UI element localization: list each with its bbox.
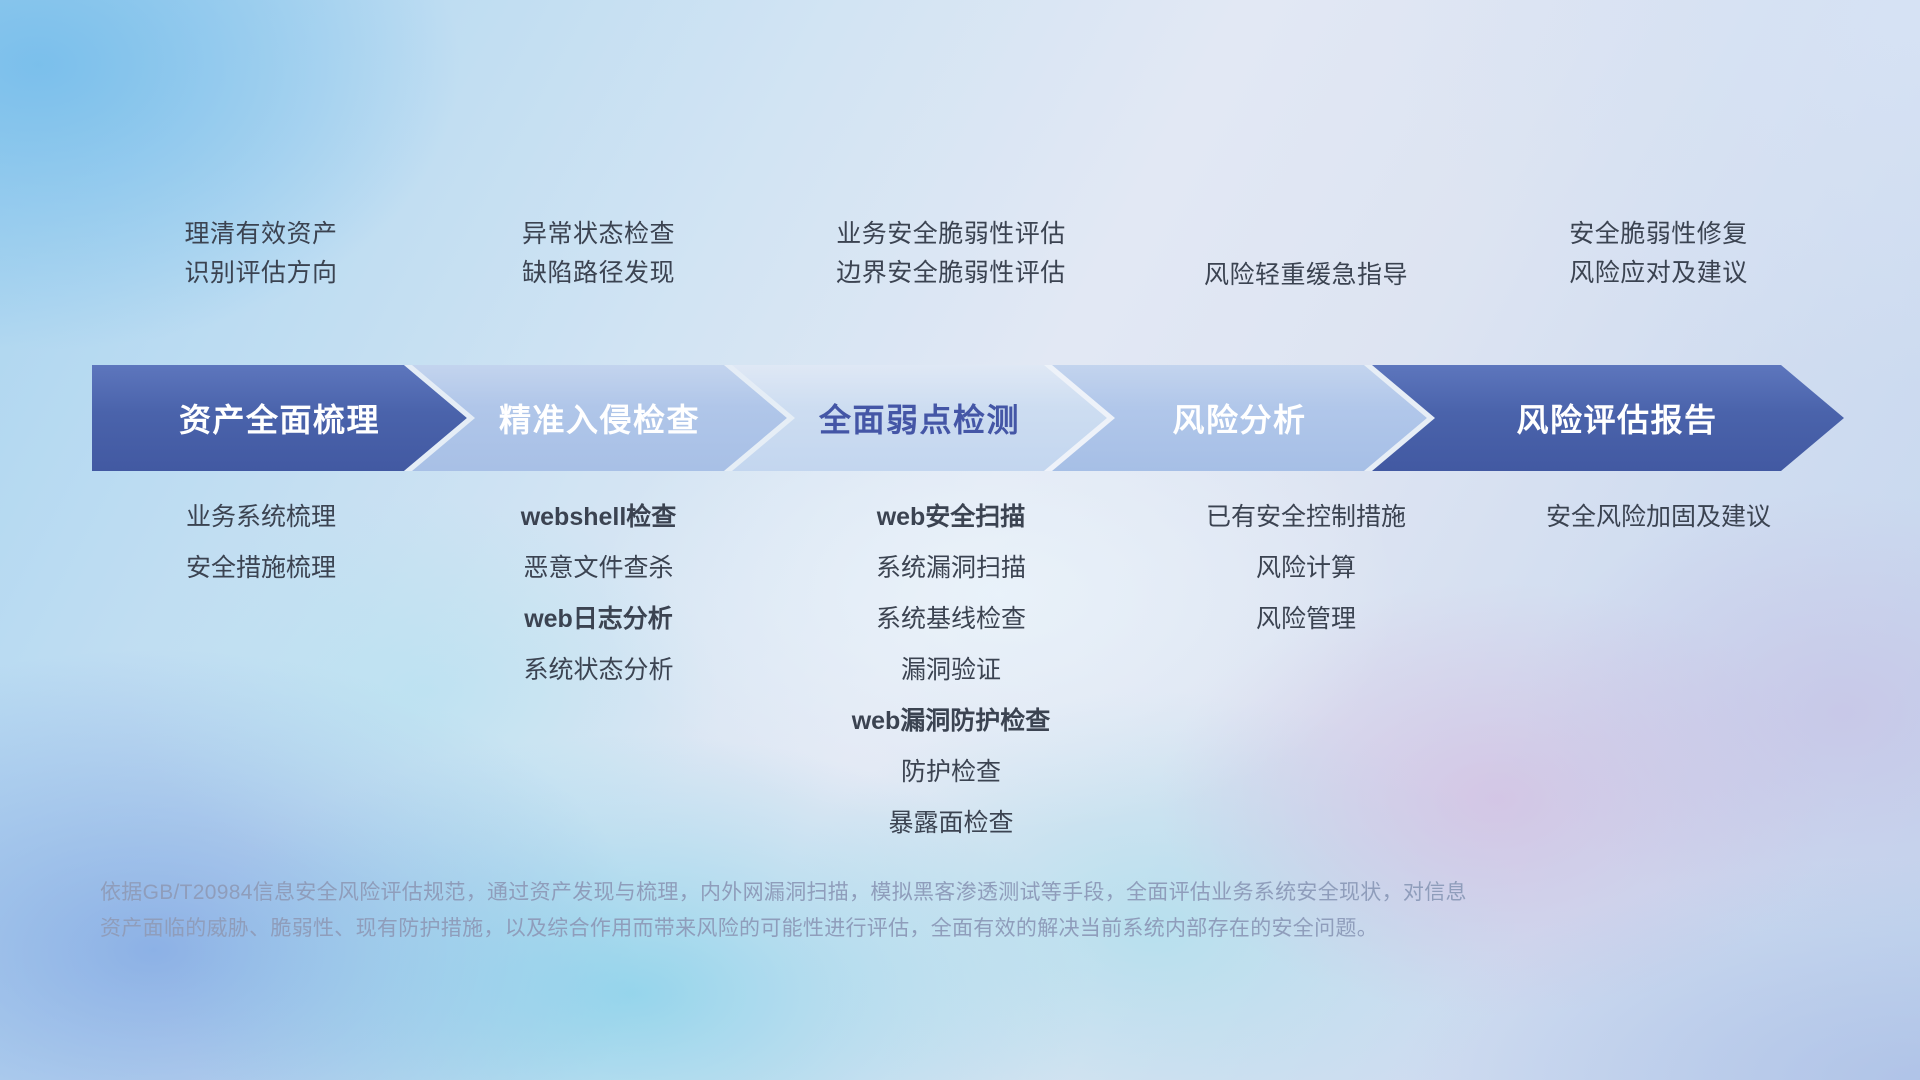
footer-line-1: 依据GB/T20984信息安全风险评估规范，通过资产发现与梳理，内外网漏洞扫描，… [100,875,1640,911]
output-text: 恶意文件查杀 [426,556,771,581]
stage-outputs-risk-analysis: 已有安全控制措施 风险计算 风险管理 [1131,505,1481,632]
output-text: 系统状态分析 [426,658,771,683]
stage-inputs-report: 安全脆弱性修复 风险应对及建议 [1481,222,1836,328]
stage-inputs-row: 理清有效资产 识别评估方向 异常状态检查 缺陷路径发现 业务安全脆弱性评估 边界… [96,222,1836,328]
stage-title: 资产全面梳理 [179,395,380,441]
input-text: 业务安全脆弱性评估 [771,222,1131,247]
input-text: 安全脆弱性修复 [1481,222,1836,247]
output-text: 系统基线检查 [771,607,1131,632]
footer-description: 依据GB/T20984信息安全风险评估规范，通过资产发现与梳理，内外网漏洞扫描，… [100,875,1640,947]
output-text: 暴露面检查 [771,811,1131,836]
stage-inputs-risk-analysis: 风险轻重缓急指导 [1131,222,1481,328]
stage-arrow-band: 资产全面梳理 [92,365,1844,471]
process-diagram: 理清有效资产 识别评估方向 异常状态检查 缺陷路径发现 业务安全脆弱性评估 边界… [0,0,1920,1080]
input-text: 异常状态检查 [426,222,771,247]
stage-outputs-asset: 业务系统梳理 安全措施梳理 [96,505,426,581]
output-text: webshell检查 [426,505,771,530]
stage-arrow-asset[interactable]: 资产全面梳理 [92,365,467,471]
stage-outputs-intrusion: webshell检查 恶意文件查杀 web日志分析 系统状态分析 [426,505,771,683]
output-text: 安全措施梳理 [96,556,426,581]
stage-inputs-weakness: 业务安全脆弱性评估 边界安全脆弱性评估 [771,222,1131,328]
stage-outputs-report: 安全风险加固及建议 [1481,505,1836,530]
stage-title: 风险分析 [1172,395,1306,441]
stage-title: 精准入侵检查 [499,395,700,441]
stage-title: 全面弱点检测 [819,395,1020,441]
footer-line-2: 资产面临的威胁、脆弱性、现有防护措施，以及综合作用而带来风险的可能性进行评估，全… [100,911,1640,947]
stage-inputs-asset: 理清有效资产 识别评估方向 [96,222,426,328]
stage-arrow-risk-analysis[interactable]: 风险分析 [1052,365,1427,471]
output-text: web日志分析 [426,607,771,632]
stage-arrow-intrusion[interactable]: 精准入侵检查 [412,365,787,471]
output-text: 已有安全控制措施 [1131,505,1481,530]
output-text: web安全扫描 [771,505,1131,530]
input-text: 缺陷路径发现 [426,261,771,286]
stage-arrow-weakness[interactable]: 全面弱点检测 [732,365,1107,471]
output-text: 风险管理 [1131,607,1481,632]
output-text: 安全风险加固及建议 [1481,505,1836,530]
output-text: 防护检查 [771,760,1131,785]
input-text: 边界安全脆弱性评估 [771,261,1131,286]
stage-arrow-report[interactable]: 风险评估报告 [1372,365,1844,471]
stage-outputs-row: 业务系统梳理 安全措施梳理 webshell检查 恶意文件查杀 web日志分析 … [96,505,1836,836]
input-text: 理清有效资产 [96,222,426,247]
input-text: 风险应对及建议 [1481,261,1836,286]
input-text: 识别评估方向 [96,261,426,286]
output-text: 系统漏洞扫描 [771,556,1131,581]
output-text: 风险计算 [1131,556,1481,581]
stage-outputs-weakness: web安全扫描 系统漏洞扫描 系统基线检查 漏洞验证 web漏洞防护检查 防护检… [771,505,1131,836]
stage-inputs-intrusion: 异常状态检查 缺陷路径发现 [426,222,771,328]
stage-title: 风险评估报告 [1516,395,1717,441]
output-text: web漏洞防护检查 [771,709,1131,734]
output-text: 漏洞验证 [771,658,1131,683]
input-text: 风险轻重缓急指导 [1131,263,1481,288]
output-text: 业务系统梳理 [96,505,426,530]
